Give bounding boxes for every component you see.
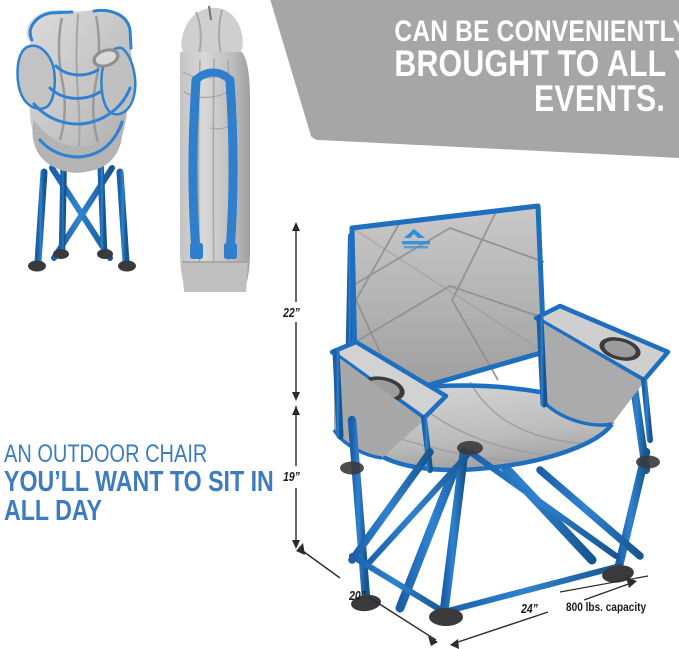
banner-line-3: EVENTS. [394, 82, 665, 116]
main-chair-illustration [332, 206, 668, 626]
lead-line-3: ALL DAY [4, 498, 244, 525]
lead-line-1: AN OUTDOOR CHAIR [4, 443, 244, 467]
folded-chair-illustration [18, 10, 137, 272]
headline-banner-text: CAN BE CONVENIENTLY BROUGHT TO ALL YOUR … [394, 18, 665, 116]
dimension-label-back-height: 22” [283, 305, 300, 320]
folded-chair-fabric [18, 10, 136, 173]
dimension-label-seat-height: 19” [283, 469, 300, 484]
dimension-label-width: 24” [521, 601, 538, 616]
folded-chair-feet [28, 249, 136, 272]
banner-line-2: BROUGHT TO ALL YOUR [394, 47, 665, 81]
banner-line-1: CAN BE CONVENIENTLY [394, 18, 665, 46]
carry-bag-illustration [180, 6, 250, 292]
lead-headline: AN OUTDOOR CHAIR YOU’LL WANT TO SIT IN A… [4, 443, 304, 525]
infographic-canvas: CAN BE CONVENIENTLY BROUGHT TO ALL YOUR … [0, 0, 679, 649]
dimension-label-depth: 20” [349, 588, 366, 603]
capacity-label: 800 lbs. capacity [566, 600, 646, 614]
lead-line-2: YOU’LL WANT TO SIT IN [4, 469, 244, 496]
